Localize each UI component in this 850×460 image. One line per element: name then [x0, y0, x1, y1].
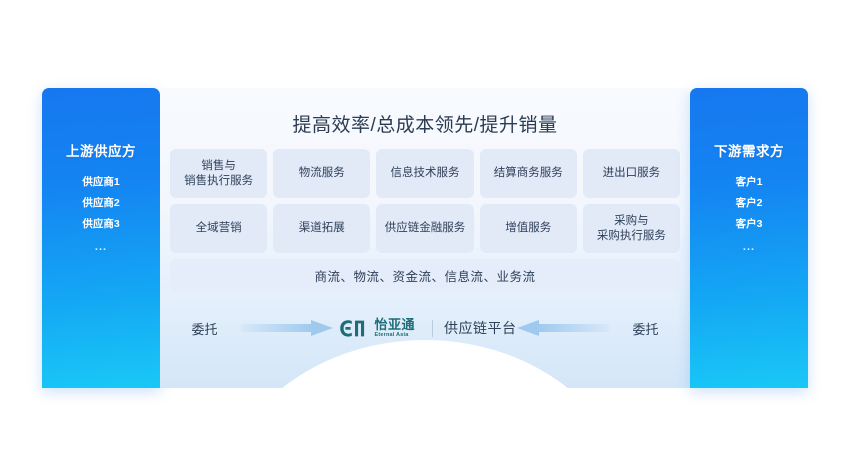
upstream-ellipsis: ... [95, 241, 107, 253]
service-card[interactable]: 增值服务 [480, 204, 577, 253]
list-item: 供应商2 [82, 197, 119, 210]
arrow-right-icon [241, 320, 333, 336]
service-card[interactable]: 供应链金融服务 [376, 204, 473, 253]
delegation-label-right: 委托 [609, 319, 683, 338]
arrow-left-shaft [537, 324, 609, 332]
downstream-demand-panel: 下游需求方 客户1 客户2 客户3 ... [690, 88, 808, 388]
supply-chain-diagram: 上游供应方 供应商1 供应商2 供应商3 ... 提高效率/总成本领先/提升销量… [0, 0, 850, 460]
downstream-customer-list: 客户1 客户2 客户3 [736, 176, 763, 231]
platform-label: 供应链平台 [444, 318, 517, 338]
service-card[interactable]: 渠道拓展 [273, 204, 370, 253]
flow-band: 商流、物流、资金流、信息流、业务流 [170, 259, 680, 292]
arrow-right-head [311, 320, 333, 336]
brand-name-en: Eternal Asia [374, 333, 415, 339]
list-item: 客户3 [736, 218, 763, 231]
service-card[interactable]: 信息技术服务 [376, 149, 473, 198]
service-card[interactable]: 结算商务服务 [480, 149, 577, 198]
ea-logo-icon [339, 319, 365, 338]
arrow-left-icon [517, 320, 609, 336]
arrow-left-head [517, 320, 539, 336]
upstream-supplier-list: 供应商1 供应商2 供应商3 [82, 176, 119, 231]
service-card[interactable]: 物流服务 [273, 149, 370, 198]
brand-wordmark: 怡亚通 Eternal Asia [374, 318, 415, 339]
service-card[interactable]: 进出口服务 [583, 149, 680, 198]
list-item: 供应商3 [82, 218, 119, 231]
brand-logo: 怡亚通 Eternal Asia [333, 318, 421, 339]
service-card-row-2: 全域营销 渠道拓展 供应链金融服务 增值服务 采购与 采购执行服务 [160, 204, 690, 253]
service-card[interactable]: 销售与 销售执行服务 [170, 149, 267, 198]
service-card-row-1: 销售与 销售执行服务 物流服务 信息技术服务 结算商务服务 进出口服务 [160, 149, 690, 198]
list-item: 客户2 [736, 197, 763, 210]
delegation-label-left: 委托 [167, 319, 241, 338]
service-card[interactable]: 全域营销 [170, 204, 267, 253]
upstream-panel-title: 上游供应方 [66, 140, 136, 160]
brand-name-cn: 怡亚通 [374, 318, 415, 331]
upstream-supplier-panel: 上游供应方 供应商1 供应商2 供应商3 ... [42, 88, 160, 388]
arrow-right-shaft [241, 324, 313, 332]
list-item: 客户1 [736, 176, 763, 189]
page-title: 提高效率/总成本领先/提升销量 [160, 110, 690, 137]
platform-center-panel: 提高效率/总成本领先/提升销量 销售与 销售执行服务 物流服务 信息技术服务 结… [160, 88, 690, 388]
downstream-ellipsis: ... [743, 241, 755, 253]
downstream-panel-title: 下游需求方 [714, 140, 784, 160]
service-card[interactable]: 采购与 采购执行服务 [583, 204, 680, 253]
list-item: 供应商1 [82, 176, 119, 189]
brand-divider [432, 320, 433, 337]
